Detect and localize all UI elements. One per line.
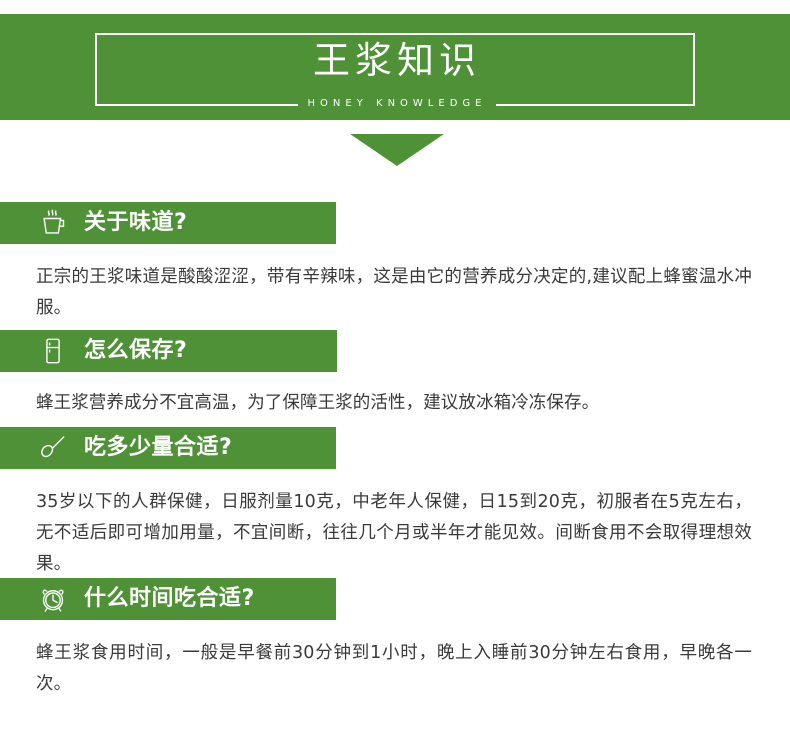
alarm-clock-icon bbox=[38, 584, 68, 614]
section-title-dosage: 吃多少量合适? bbox=[84, 435, 232, 461]
section-header-storage: 怎么保存? bbox=[0, 330, 337, 372]
section-body-timing: 蜂王浆食用时间，一般是早餐前30分钟到1小时，晚上入睡前30分钟左右食用，早晚各… bbox=[36, 638, 752, 700]
section-title-taste: 关于味道? bbox=[84, 210, 187, 236]
subtitle-rule-right bbox=[502, 104, 677, 106]
page-subtitle: HONEY KNOWLEDGE bbox=[298, 98, 497, 110]
subtitle-rule-left bbox=[117, 104, 292, 106]
section-body-storage: 蜂王浆营养成分不宜高温，为了保障王浆的活性，建议放冰箱冷冻保存。 bbox=[36, 388, 752, 419]
section-title-timing: 什么时间吃合适? bbox=[84, 586, 255, 612]
banner-frame: 王浆知识 HONEY KNOWLEDGE bbox=[95, 33, 695, 106]
spoon-icon bbox=[38, 433, 68, 463]
section-title-storage: 怎么保存? bbox=[84, 338, 187, 364]
product-detail-page: 王浆知识 HONEY KNOWLEDGE 关于味道? bbox=[0, 0, 790, 742]
section-body-dosage: 35岁以下的人群保健，日服剂量10克，中老年人保健，日15到20克，初服者在5克… bbox=[36, 487, 752, 580]
section-header-dosage: 吃多少量合适? bbox=[0, 427, 336, 469]
section-header-taste: 关于味道? bbox=[0, 202, 336, 244]
banner: 王浆知识 HONEY KNOWLEDGE bbox=[0, 14, 790, 120]
refrigerator-icon bbox=[38, 336, 68, 366]
down-triangle-icon bbox=[350, 134, 444, 166]
banner-subtitle-row: HONEY KNOWLEDGE bbox=[97, 97, 697, 113]
section-body-taste: 正宗的王浆味道是酸酸涩涩，带有辛辣味，这是由它的营养成分决定的,建议配上蜂蜜温水… bbox=[36, 262, 752, 324]
page-title: 王浆知识 bbox=[97, 38, 697, 83]
steaming-cup-icon bbox=[38, 208, 68, 238]
section-header-timing: 什么时间吃合适? bbox=[0, 578, 336, 620]
